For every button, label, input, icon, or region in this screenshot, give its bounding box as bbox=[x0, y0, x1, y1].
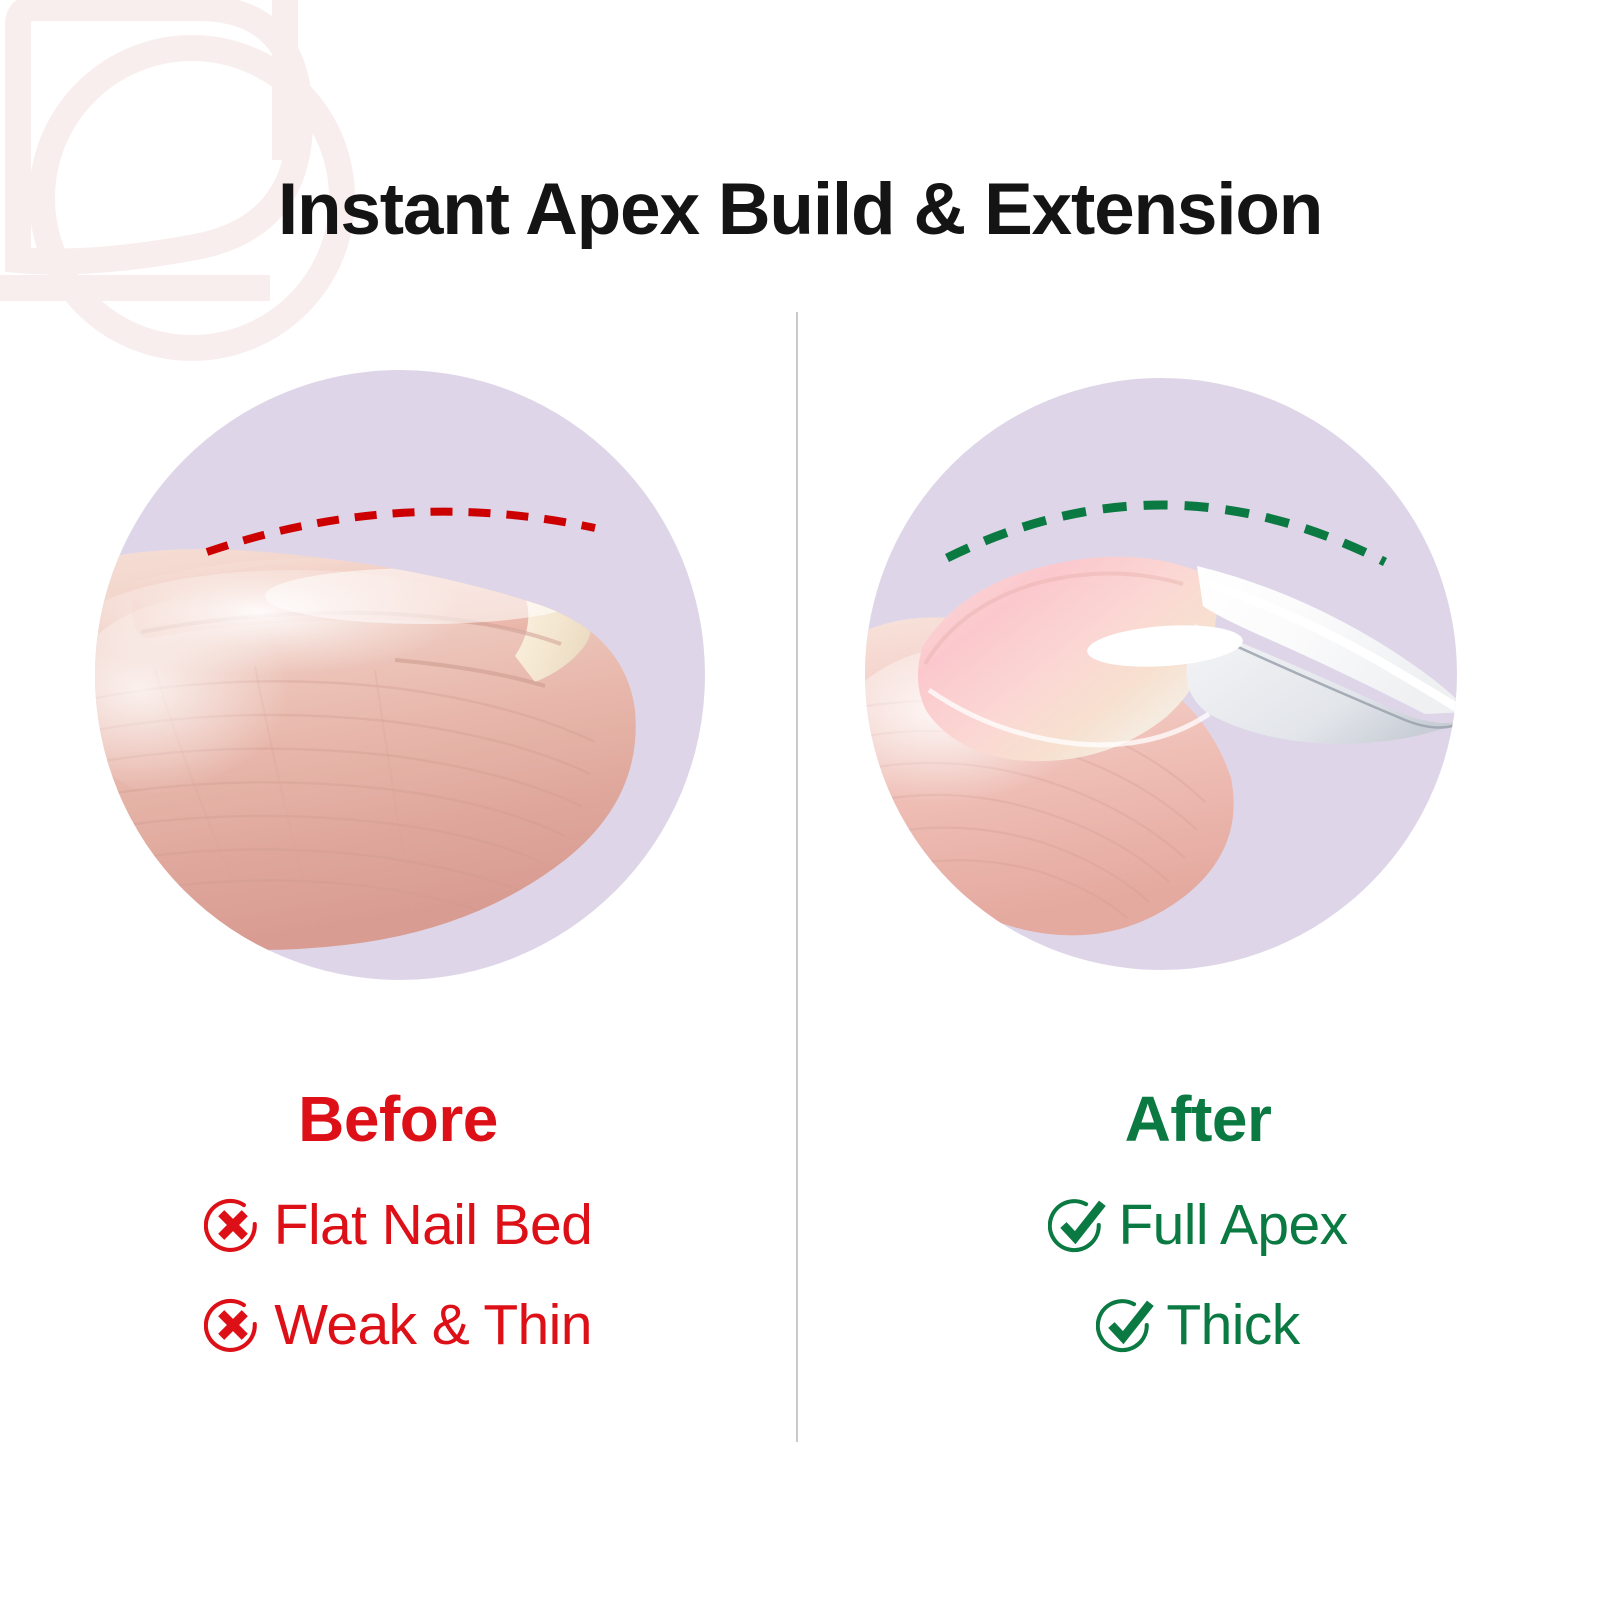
before-heading: Before bbox=[0, 1082, 796, 1156]
circle-x-icon bbox=[204, 1296, 262, 1354]
after-nail-photo bbox=[865, 378, 1457, 970]
list-item-label: Flat Nail Bed bbox=[274, 1197, 593, 1254]
circle-x-icon bbox=[204, 1196, 262, 1254]
list-item: Full Apex bbox=[796, 1196, 1600, 1254]
circle-check-icon bbox=[1096, 1296, 1154, 1354]
list-item-label: Full Apex bbox=[1118, 1197, 1347, 1254]
after-bullet-list: Full Apex Thick bbox=[796, 1196, 1600, 1396]
before-nail-photo bbox=[95, 370, 705, 980]
before-bullet-list: Flat Nail Bed Weak & Thin bbox=[0, 1196, 796, 1396]
list-item-label: Weak & Thin bbox=[274, 1297, 592, 1354]
promo-graphic: Instant Apex Build & Extension bbox=[0, 0, 1600, 1600]
after-photo-circle bbox=[865, 378, 1457, 970]
list-item-label: Thick bbox=[1166, 1297, 1299, 1354]
list-item: Thick bbox=[796, 1296, 1600, 1354]
page-title: Instant Apex Build & Extension bbox=[0, 168, 1600, 251]
circle-check-icon bbox=[1048, 1196, 1106, 1254]
list-item: Weak & Thin bbox=[0, 1296, 796, 1354]
before-photo-circle bbox=[95, 370, 705, 980]
after-heading: After bbox=[796, 1082, 1600, 1156]
list-item: Flat Nail Bed bbox=[0, 1196, 796, 1254]
